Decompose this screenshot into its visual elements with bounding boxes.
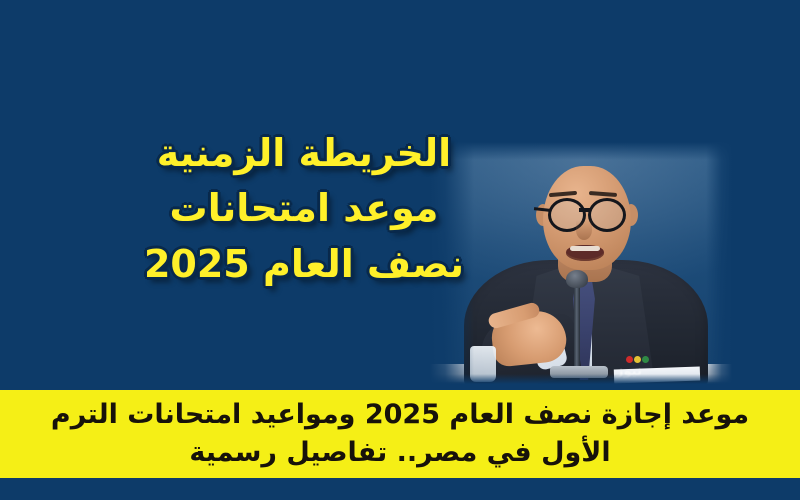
nose [576,220,592,240]
eyeglasses-bridge [579,208,591,212]
teeth [570,246,600,251]
news-thumbnail-canvas: نيوز الخريطة الزمنية موعد امتحانات نصف ا… [0,0,800,500]
headline-line-2: موعد امتحانات [130,181,478,236]
flag-marker-green [642,356,649,363]
headline-block: الخريطة الزمنية موعد امتحانات نصف العام … [130,126,478,292]
microphone-head [566,270,588,288]
flag-marker-red [626,356,633,363]
caption-band: موعد إجازة نصف العام 2025 ومواعيد امتحان… [0,390,800,478]
eyeglasses-lens-right [588,198,626,232]
photo-edge-fade-right [706,142,732,384]
bottom-navy-strip [0,478,800,500]
caption-line-1: موعد إجازة نصف العام 2025 ومواعيد امتحان… [51,396,749,434]
microphone-stem [574,282,580,372]
flag-marker-yellow [634,356,641,363]
headline-line-3: نصف العام 2025 [130,237,478,292]
photo-edge-fade-bottom [430,374,732,384]
headline-line-1: الخريطة الزمنية [130,126,478,181]
caption-line-2: الأول في مصر.. تفاصيل رسمية [189,434,610,472]
